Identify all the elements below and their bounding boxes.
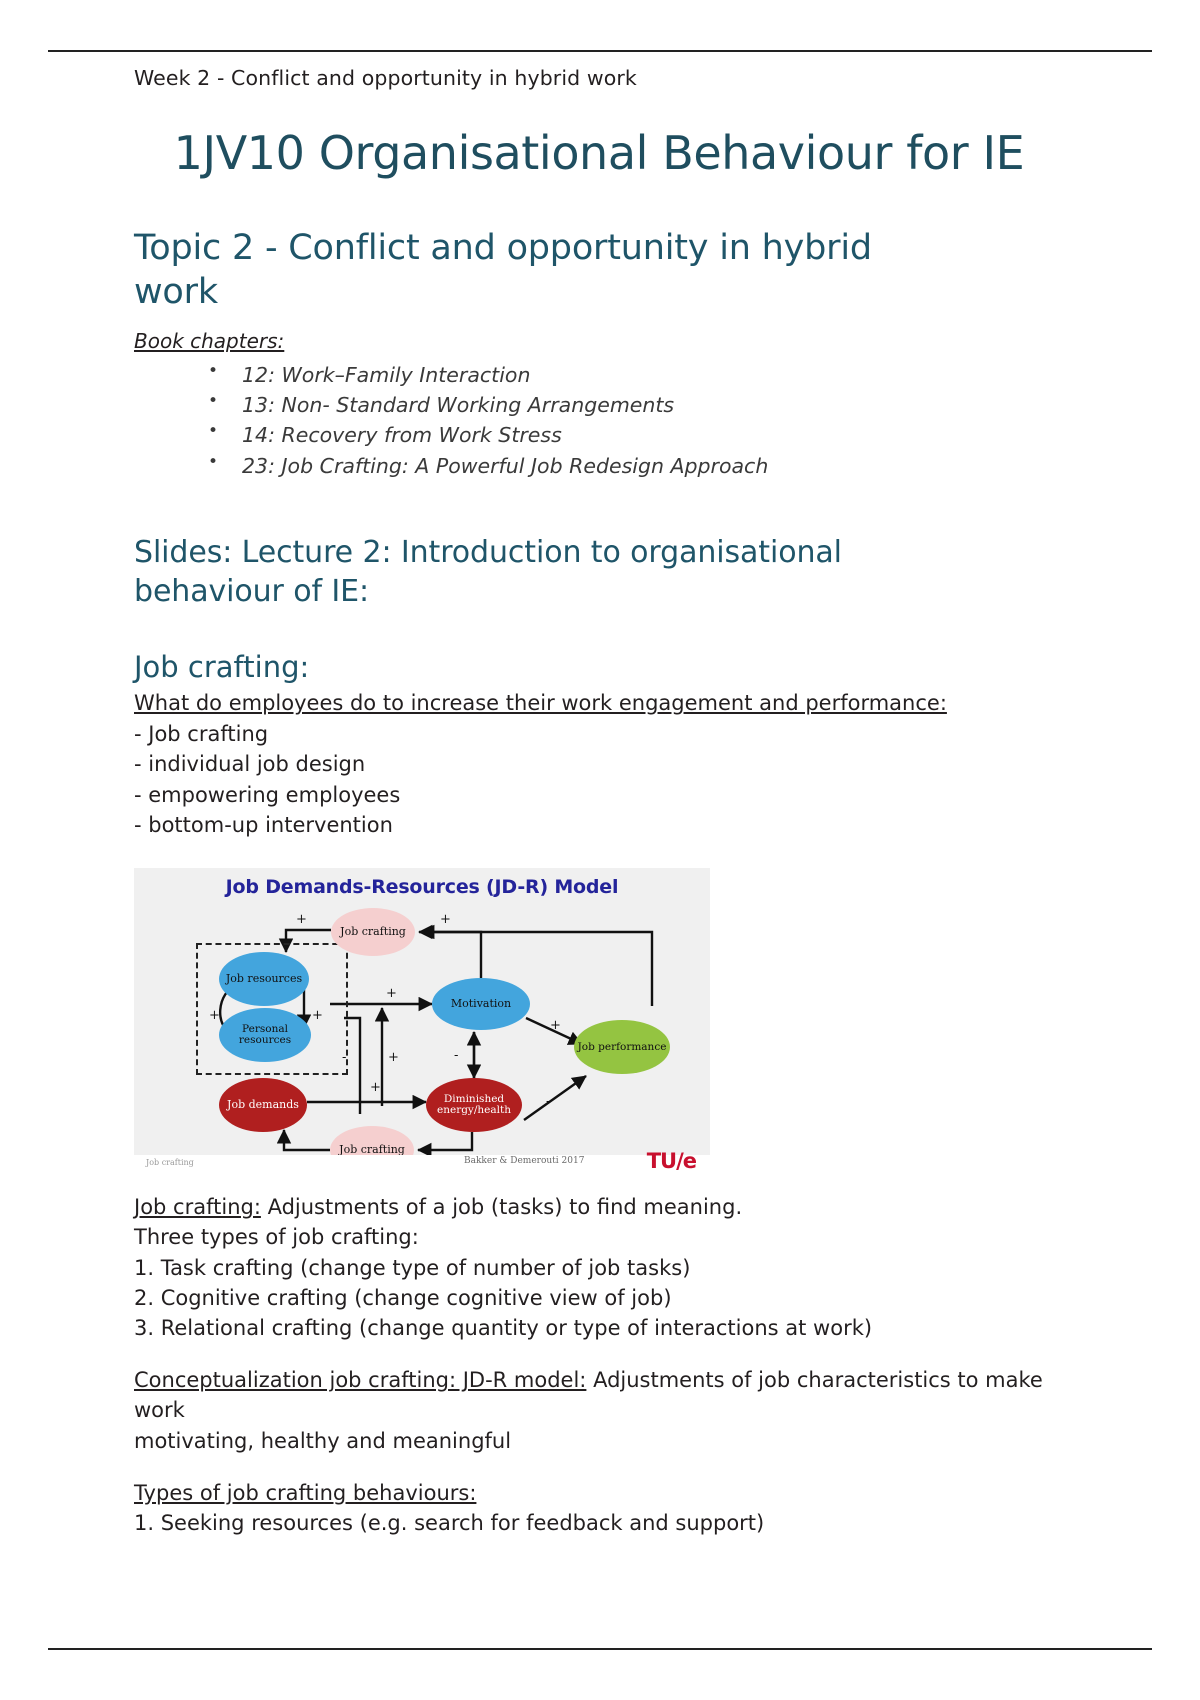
sign-plus: + — [296, 912, 307, 927]
node-diminished-energy: Diminished energy/health — [426, 1078, 522, 1132]
three-types-label: Three types of job crafting: — [134, 1222, 1064, 1252]
job-crafting-answer: - individual job design — [134, 749, 1064, 779]
figure-credit: Bakker & Demerouti 2017 — [464, 1156, 584, 1166]
node-job-performance: Job performance — [574, 1020, 670, 1074]
job-crafting-answer: - bottom-up intervention — [134, 810, 1064, 840]
crafting-type: 2. Cognitive crafting (change cognitive … — [134, 1283, 1064, 1313]
behaviours-label-text: Types of job crafting behaviours: — [134, 1481, 476, 1505]
sign-plus: + — [440, 912, 451, 927]
jdr-model-figure: Job Demands-Resources (JD-R) Model — [134, 868, 710, 1174]
job-crafting-answer: - Job crafting — [134, 719, 1064, 749]
node-personal-resources: Personal resources — [219, 1008, 311, 1062]
document-content: Week 2 - Conflict and opportunity in hyb… — [134, 62, 1064, 1538]
node-job-demands: Job demands — [219, 1078, 307, 1132]
job-crafting-definition-label: Job crafting: — [134, 1195, 261, 1219]
header-rule — [48, 50, 1152, 52]
conceptualization-line2: motivating, healthy and meaningful — [134, 1426, 1064, 1456]
list-item: 12: Work–Family Interaction — [208, 360, 1064, 390]
sign-plus: + — [388, 1050, 399, 1065]
job-crafting-answer: - empowering employees — [134, 780, 1064, 810]
list-item: 13: Non- Standard Working Arrangements — [208, 390, 1064, 420]
node-job-resources: Job resources — [219, 952, 309, 1006]
sign-plus: + — [312, 1008, 323, 1023]
paragraph-spacer — [134, 1343, 1064, 1365]
behaviours-label: Types of job crafting behaviours: — [134, 1478, 1064, 1508]
sign-minus: - — [454, 1048, 458, 1063]
sign-plus: + — [370, 1080, 381, 1095]
conceptualization-paragraph: Conceptualization job crafting: JD-R mod… — [134, 1365, 1064, 1425]
behaviour-item: 1. Seeking resources (e.g. search for fe… — [134, 1508, 1064, 1538]
job-crafting-definition-text: Adjustments of a job (tasks) to find mea… — [261, 1195, 742, 1219]
figure-footnote: Job crafting — [146, 1158, 194, 1167]
list-item: 14: Recovery from Work Stress — [208, 420, 1064, 450]
paragraph-spacer — [134, 1456, 1064, 1478]
job-crafting-definition: Job crafting: Adjustments of a job (task… — [134, 1192, 1064, 1222]
document-page: Week 2 - Conflict and opportunity in hyb… — [0, 0, 1200, 1700]
topic-heading: Topic 2 - Conflict and opportunity in hy… — [134, 227, 964, 315]
crafting-type: 1. Task crafting (change type of number … — [134, 1253, 1064, 1283]
node-motivation: Motivation — [432, 978, 530, 1030]
sign-plus: + — [550, 1018, 561, 1033]
crafting-type: 3. Relational crafting (change quantity … — [134, 1313, 1064, 1343]
figure-bottom-strip — [134, 1155, 710, 1174]
sign-plus: + — [386, 986, 397, 1001]
running-head: Week 2 - Conflict and opportunity in hyb… — [134, 62, 1064, 93]
book-chapters-label: Book chapters: — [134, 327, 1064, 356]
slides-heading: Slides: Lecture 2: Introduction to organ… — [134, 533, 924, 611]
list-item: 23: Job Crafting: A Powerful Job Redesig… — [208, 451, 1064, 481]
job-crafting-question: What do employees do to increase their w… — [134, 689, 1064, 719]
book-chapters-list: 12: Work–Family Interaction 13: Non- Sta… — [134, 360, 1064, 481]
document-title: 1JV10 Organisational Behaviour for IE — [134, 125, 1064, 182]
job-crafting-heading: Job crafting: — [134, 649, 1064, 685]
node-job-crafting-top: Job crafting — [331, 908, 415, 956]
sign-minus: - — [546, 1094, 550, 1109]
sign-minus: - — [342, 1050, 346, 1065]
conceptualization-label: Conceptualization job crafting: JD-R mod… — [134, 1368, 586, 1392]
footer-rule — [48, 1648, 1152, 1650]
tue-logo: TU/e — [647, 1149, 696, 1173]
sign-plus: + — [209, 1008, 220, 1023]
